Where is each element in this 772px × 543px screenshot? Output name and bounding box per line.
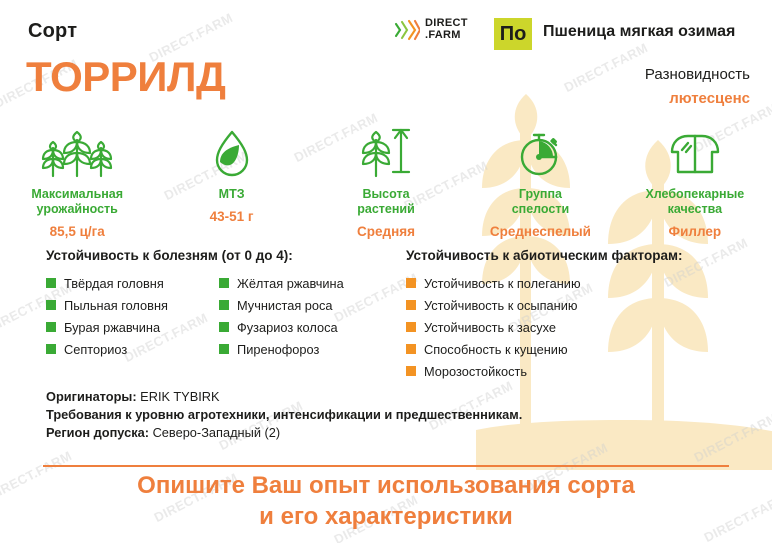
- section-title-abiotic: Устойчивость к абиотическим факторам:: [406, 248, 766, 263]
- list-item: Способность к кущению: [406, 338, 766, 360]
- bullet-square-icon: [46, 300, 56, 310]
- stat-label: Хлебопекарные качества: [645, 187, 744, 217]
- list-item: Септориоз: [46, 338, 219, 360]
- bullet-square-icon: [406, 322, 416, 332]
- page-title: ТОРРИЛД: [26, 56, 225, 98]
- bread-icon: [667, 126, 723, 178]
- stat-max-yield: Максимальная урожайность 85,5 ц/га: [0, 126, 154, 246]
- region-value: Северо-Западный (2): [153, 425, 281, 440]
- bullet-square-icon: [406, 278, 416, 288]
- list-item: Бурая ржавчина: [46, 316, 219, 338]
- list-item: Пиренофороз: [219, 338, 392, 360]
- bullet-square-icon: [219, 344, 229, 354]
- bullet-square-icon: [406, 300, 416, 310]
- originators-value: ERIK TYBIRK: [140, 389, 219, 404]
- list-item-label: Пиренофороз: [237, 342, 319, 357]
- abiotic-list: Устойчивость к полеганию Устойчивость к …: [406, 272, 766, 382]
- list-item: Жёлтая ржавчина: [219, 272, 392, 294]
- bullet-square-icon: [46, 278, 56, 288]
- disease-list-right: Жёлтая ржавчина Мучнистая роса Фузариоз …: [219, 272, 392, 360]
- bullet-square-icon: [46, 322, 56, 332]
- bullet-square-icon: [406, 366, 416, 376]
- stat-label: МТЗ: [219, 187, 245, 202]
- sort-info-card: DIRECT.FARM DIRECT.FARM DIRECT.FARM DIRE…: [0, 0, 772, 543]
- requirements-text: Требования к уровню агротехники, интенси…: [46, 407, 522, 422]
- stats-row: Максимальная урожайность 85,5 ц/га МТЗ 4…: [0, 126, 772, 246]
- cta-line-1: Опишите Ваш опыт использования сорта: [0, 470, 772, 501]
- logo-wordmark: DIRECT .FARM: [425, 18, 468, 41]
- list-item: Фузариоз колоса: [219, 316, 392, 338]
- list-item-label: Устойчивость к осыпанию: [424, 298, 577, 313]
- logo-line-farm: .FARM: [425, 30, 468, 42]
- requirements-line: Требования к уровню агротехники, интенси…: [46, 406, 522, 424]
- stat-value: Филлер: [669, 224, 722, 239]
- cta-line-2: и его характеристики: [0, 501, 772, 532]
- variety-type-value: лютесценс: [669, 90, 750, 107]
- stat-label: Максимальная урожайность: [31, 187, 123, 217]
- logo-line-direct: DIRECT: [425, 18, 468, 30]
- disease-resistance-section: Устойчивость к болезням (от 0 до 4): Твё…: [46, 248, 406, 360]
- crop-name: Пшеница мягкая озимая: [543, 23, 735, 41]
- stat-value: Средняя: [357, 224, 415, 239]
- list-item: Устойчивость к осыпанию: [406, 294, 766, 316]
- list-item-label: Мучнистая роса: [237, 298, 333, 313]
- stat-baking-quality: Хлебопекарные качества Филлер: [618, 126, 772, 246]
- list-item-label: Устойчивость к полеганию: [424, 276, 581, 291]
- list-item-label: Жёлтая ржавчина: [237, 276, 344, 291]
- sort-label: Сорт: [28, 20, 77, 43]
- grain-drop-icon: [212, 126, 252, 178]
- stat-value: 43-51 г: [210, 209, 254, 224]
- list-item: Устойчивость к полеганию: [406, 272, 766, 294]
- variety-type-label: Разновидность: [645, 66, 750, 83]
- abiotic-resistance-section: Устойчивость к абиотическим факторам: Ус…: [406, 248, 766, 382]
- bullet-square-icon: [219, 278, 229, 288]
- list-item-label: Морозостойкость: [424, 364, 527, 379]
- wheat-ears-icon: [40, 126, 114, 178]
- stat-tkw: МТЗ 43-51 г: [154, 126, 308, 246]
- list-item-label: Септориоз: [64, 342, 127, 357]
- chevron-logo-icon: [394, 19, 420, 41]
- list-item: Морозостойкость: [406, 360, 766, 382]
- stat-label: Высота растений: [357, 187, 415, 217]
- list-item-label: Фузариоз колоса: [237, 320, 338, 335]
- list-item: Твёрдая головня: [46, 272, 219, 294]
- region-line: Регион допуска: Северо-Западный (2): [46, 424, 522, 442]
- stat-value: 85,5 ц/га: [50, 224, 105, 239]
- bullet-square-icon: [219, 322, 229, 332]
- bullet-square-icon: [406, 344, 416, 354]
- status-badge: По: [494, 18, 532, 50]
- plant-height-icon: [359, 126, 413, 178]
- stat-label: Группа спелости: [512, 187, 569, 217]
- list-item: Мучнистая роса: [219, 294, 392, 316]
- region-label: Регион допуска:: [46, 425, 149, 440]
- stopwatch-icon: [516, 126, 564, 178]
- stat-plant-height: Высота растений Средняя: [309, 126, 463, 246]
- stat-ripening-group: Группа спелости Среднеспелый: [463, 126, 617, 246]
- list-item: Пыльная головня: [46, 294, 219, 316]
- watermark-text: DIRECT.FARM: [692, 410, 772, 465]
- direct-farm-logo: DIRECT .FARM: [394, 18, 468, 41]
- card-header: Сорт ТОРРИЛД DIRECT .FARM По Пшеница мяг…: [0, 0, 772, 120]
- list-item-label: Способность к кущению: [424, 342, 568, 357]
- info-block: Оригинаторы: ERIK TYBIRK Требования к ур…: [46, 388, 522, 442]
- disease-list-left: Твёрдая головня Пыльная головня Бурая рж…: [46, 272, 219, 360]
- section-title-diseases: Устойчивость к болезням (от 0 до 4):: [46, 248, 406, 263]
- list-item-label: Пыльная головня: [64, 298, 168, 313]
- list-item-label: Устойчивость к засухе: [424, 320, 556, 335]
- bullet-square-icon: [46, 344, 56, 354]
- list-item: Устойчивость к засухе: [406, 316, 766, 338]
- list-item-label: Твёрдая головня: [64, 276, 164, 291]
- originators-label: Оригинаторы:: [46, 389, 137, 404]
- stat-value: Среднеспелый: [490, 224, 591, 239]
- bullet-square-icon: [219, 300, 229, 310]
- list-item-label: Бурая ржавчина: [64, 320, 160, 335]
- call-to-action: Опишите Ваш опыт использования сорта и е…: [0, 470, 772, 532]
- footer-divider: [43, 465, 729, 467]
- originators-line: Оригинаторы: ERIK TYBIRK: [46, 388, 522, 406]
